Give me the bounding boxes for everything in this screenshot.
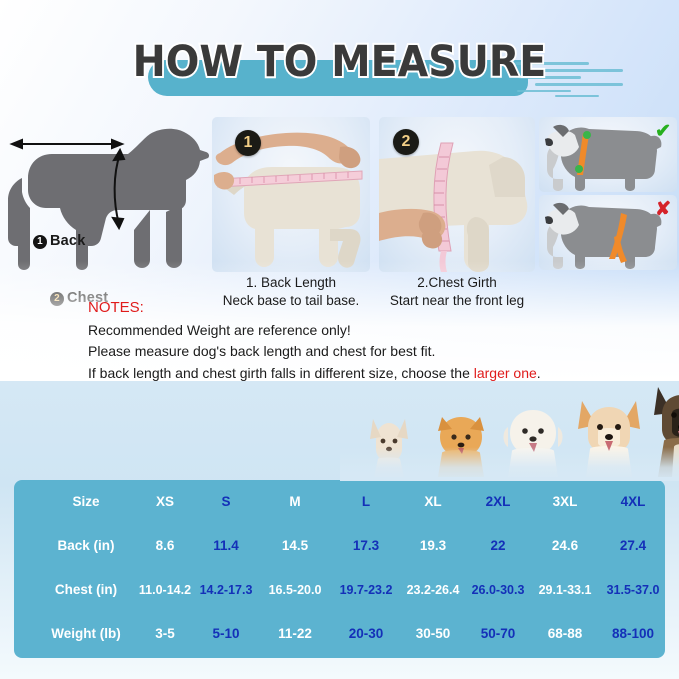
page-title: HOW TO MEASURE	[27, 40, 652, 85]
table-row-back: Back (in)8.611.414.517.319.32224.627.4	[14, 524, 665, 568]
cell-size-4xl: 4XL	[590, 480, 676, 524]
notes-line-2: Please measure dog's back length and che…	[88, 341, 648, 363]
notes-line-1: Recommended Weight are reference only!	[88, 320, 648, 342]
back-label-text: Back	[50, 233, 85, 249]
table-row-chest: Chest (in)11.0-14.214.2-17.316.5-20.019.…	[14, 568, 665, 612]
correct-placement-photo: ✔	[539, 117, 677, 192]
size-chart-infographic: HOW TO MEASURE	[0, 0, 679, 679]
notes-line-3-pre: If back length and chest girth falls in …	[88, 365, 474, 381]
caption-chest-girth-line1: 2.Chest Girth	[379, 274, 535, 292]
notes-line-3-highlight: larger one	[474, 365, 537, 381]
cell-back-4xl: 27.4	[590, 524, 676, 568]
panel-1-badge: 1	[235, 130, 261, 156]
back-badge: 1	[33, 235, 47, 249]
dog-silhouette-diagram: 1Back 2Chest	[0, 112, 212, 272]
caption-back-length-line1: 1. Back Length	[212, 274, 370, 292]
table-row-weight: Weight (lb)3-55-1011-2220-3030-5050-7068…	[14, 612, 665, 656]
cell-weight-4xl: 88-100	[590, 612, 676, 656]
incorrect-placement-photo: ✘	[539, 195, 677, 270]
dog-row-fade	[340, 447, 679, 481]
notes-title: NOTES:	[88, 297, 648, 320]
panel-2-badge: 2	[393, 129, 419, 155]
dog-breed-row	[352, 383, 679, 479]
cross-icon: ✘	[655, 198, 671, 221]
cell-chest-4xl: 31.5-37.0	[590, 568, 676, 612]
back-length-photo: 1	[212, 117, 370, 272]
dog-silhouette-icon	[0, 112, 212, 272]
chest-girth-photo: 2	[379, 117, 535, 272]
lower-section: SizeXSSMLXL2XL3XL4XL Back (in)8.611.414.…	[0, 381, 679, 679]
notes-line-3-post: .	[537, 365, 541, 381]
size-table: SizeXSSMLXL2XL3XL4XL Back (in)8.611.414.…	[14, 480, 665, 658]
back-measure-label: 1Back	[33, 233, 85, 249]
check-icon: ✔	[655, 120, 671, 143]
table-row-size: SizeXSSMLXL2XL3XL4XL	[14, 480, 665, 524]
upper-section: HOW TO MEASURE	[0, 0, 679, 381]
notes-block: NOTES: Recommended Weight are reference …	[88, 297, 648, 385]
